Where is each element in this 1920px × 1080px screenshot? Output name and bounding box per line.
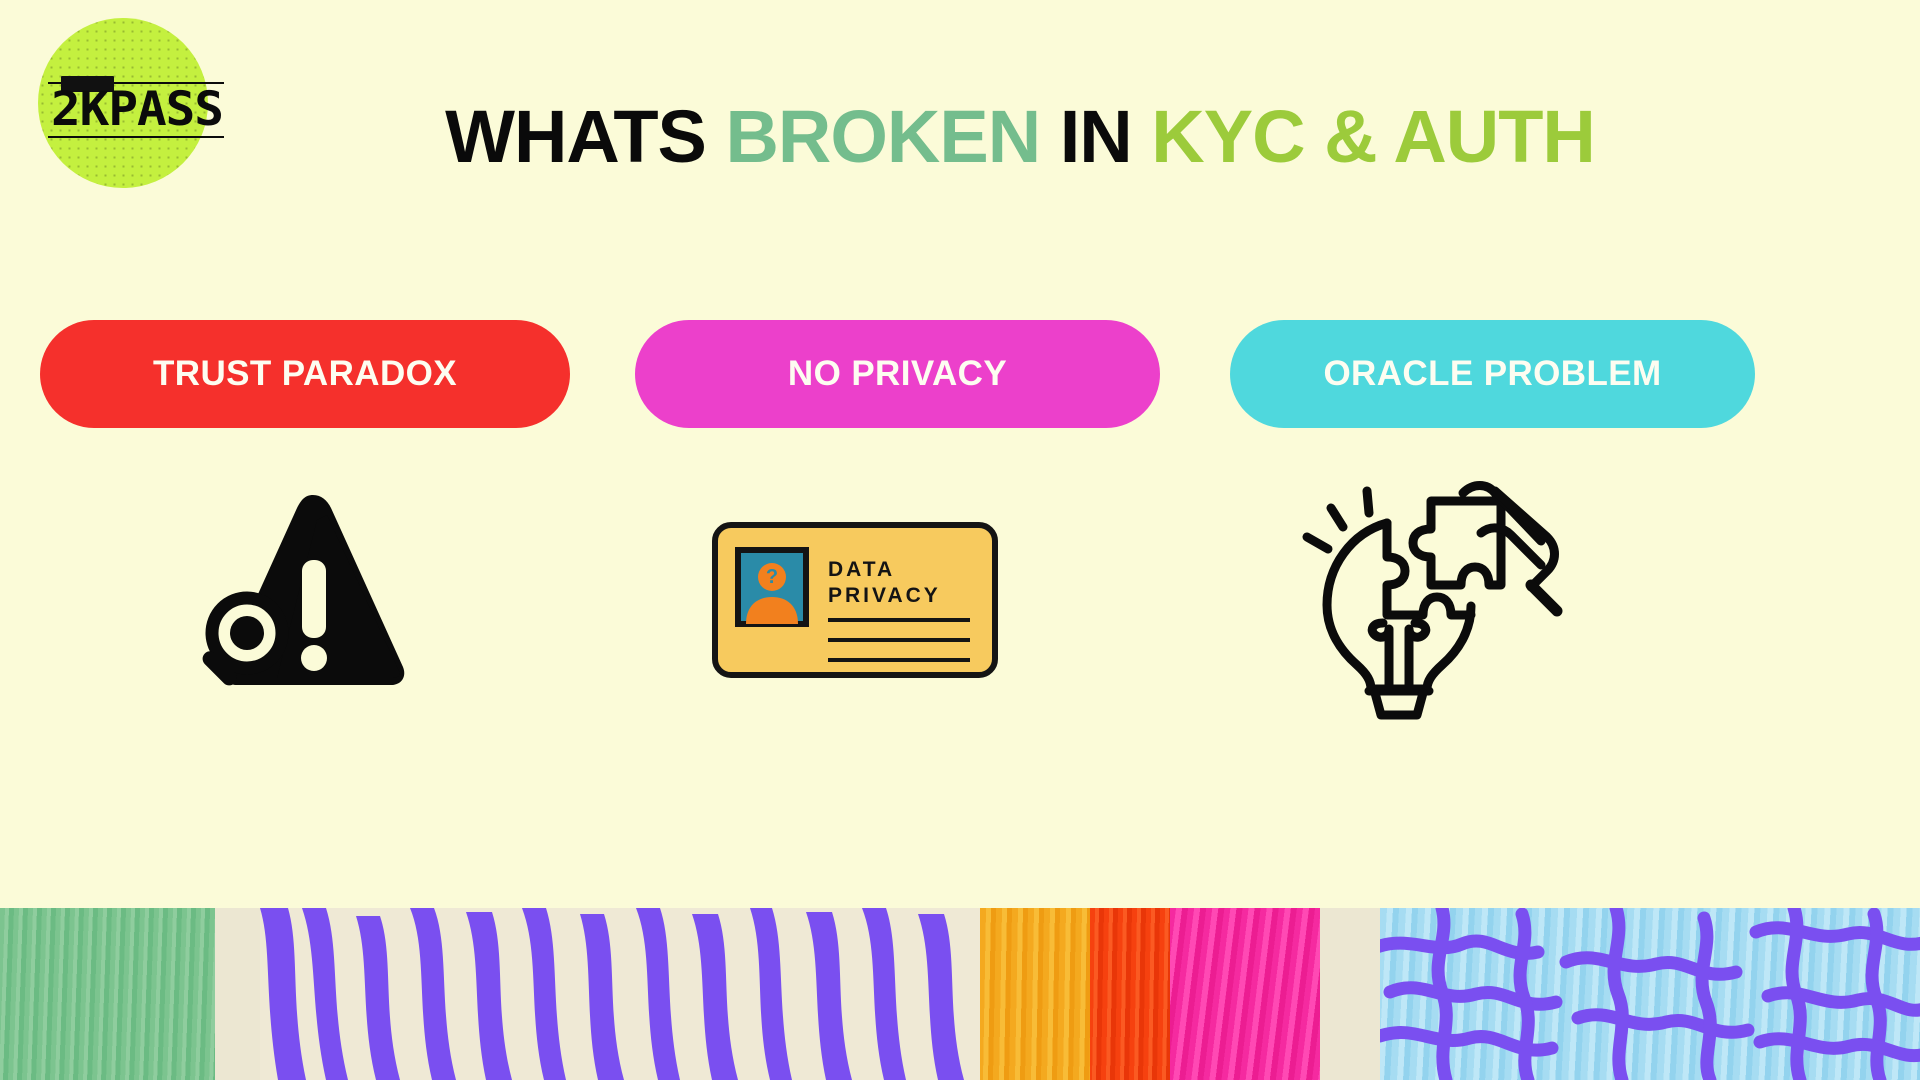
id-card-question-mark: ? bbox=[766, 566, 778, 588]
band-segment-blue bbox=[1380, 908, 1920, 1080]
zebra-stripes bbox=[260, 908, 980, 1080]
lightbulb-puzzle-icon bbox=[1295, 475, 1595, 725]
id-card-line-2: PRIVACY bbox=[828, 584, 941, 607]
problem-pill-row: TRUST PARADOX NO PRIVACY ORACLE PROBLEM bbox=[40, 320, 1780, 428]
pill-label: TRUST PARADOX bbox=[153, 354, 457, 394]
icon-slot-no-privacy: ? DATA PRIVACY bbox=[640, 470, 1070, 730]
id-card-line-1: DATA bbox=[828, 558, 895, 581]
title-word-in: IN bbox=[1060, 95, 1132, 178]
vein-pattern bbox=[1380, 908, 1920, 1080]
band-segment-green bbox=[0, 908, 235, 1080]
icon-slot-trust-paradox bbox=[100, 470, 530, 730]
warning-magnifier-icon bbox=[185, 485, 445, 715]
id-card-rule bbox=[828, 618, 970, 622]
band-segment-zebra bbox=[260, 908, 980, 1080]
decorative-bottom-band bbox=[0, 908, 1920, 1080]
pill-oracle-problem[interactable]: ORACLE PROBLEM bbox=[1230, 320, 1755, 428]
pill-label: NO PRIVACY bbox=[788, 354, 1007, 394]
icon-slot-oracle-problem bbox=[1230, 470, 1660, 730]
title-word-broken: BROKEN bbox=[725, 95, 1040, 178]
pill-label: ORACLE PROBLEM bbox=[1323, 354, 1661, 394]
pill-trust-paradox[interactable]: TRUST PARADOX bbox=[40, 320, 570, 428]
title-word-whats: WHATS bbox=[445, 95, 706, 178]
id-card-icon: ? DATA PRIVACY bbox=[710, 520, 1000, 680]
pill-no-privacy[interactable]: NO PRIVACY bbox=[635, 320, 1160, 428]
band-segment-red bbox=[1090, 908, 1180, 1080]
icon-row: ? DATA PRIVACY bbox=[0, 470, 1920, 730]
band-segment-magenta bbox=[1170, 908, 1330, 1080]
page-title: WHATS BROKEN IN KYC & AUTH bbox=[0, 98, 1920, 176]
id-card-rule bbox=[828, 658, 970, 662]
id-card-rule bbox=[828, 638, 970, 642]
title-word-kyc-auth: KYC & AUTH bbox=[1151, 95, 1595, 178]
